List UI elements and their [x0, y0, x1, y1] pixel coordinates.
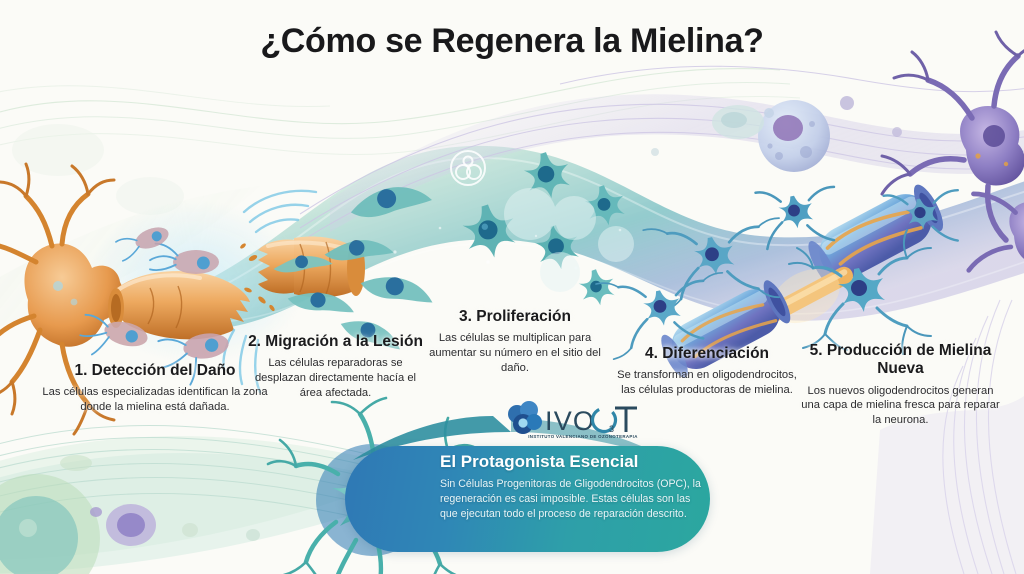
ivot-logo: IVO 3 INSTITUTO VALENCIANO DE OZONOTERAP… [503, 398, 653, 446]
step-3-heading: 3. Proliferación [424, 308, 606, 326]
step-3-body: Las células se multiplican para aumentar… [424, 331, 606, 375]
infographic-canvas: ¿Cómo se Regenera la Mielina? 1. Detecci… [0, 0, 1024, 574]
step-5-produccion-de-mielina-nueva: 5. Producción de Mielina Nueva Los nuevo… [798, 342, 1003, 428]
callout-heading: El Protagonista Esencial [440, 452, 702, 472]
logo-cell-cluster [508, 401, 542, 434]
logo-tagline: INSTITUTO VALENCIANO DE OZONOTERAPIA [517, 434, 649, 439]
step-2-migracion-a-la-lesion: 2. Migración a la Lesión Las células rep… [243, 333, 428, 401]
step-5-heading: 5. Producción de Mielina Nueva [798, 342, 1003, 379]
callout-body: Sin Células Progenitoras de Gligodendroc… [440, 477, 702, 522]
step-2-body: Las células reparadoras se desplazan dir… [243, 356, 428, 400]
step-1-body: Las células especializadas identifican l… [40, 385, 270, 415]
step-4-diferenciacion: 4. Diferenciación Se transforman en olig… [612, 345, 802, 398]
step-4-body: Se transforman en oligodendrocitos, las … [612, 368, 802, 398]
floating-cell-purple [106, 504, 156, 546]
step-1-deteccion-del-dano: 1. Detección del Daño Las células especi… [40, 362, 270, 415]
step-4-heading: 4. Diferenciación [612, 345, 802, 363]
step-3-proliferacion: 3. Proliferación Las células se multipli… [424, 308, 606, 376]
callout-content: El Protagonista Esencial Sin Células Pro… [440, 452, 702, 522]
step-2-heading: 2. Migración a la Lesión [243, 333, 428, 351]
logo-subscript: 3 [609, 424, 614, 434]
logo-wordmark: IVO [545, 406, 595, 436]
page-title: ¿Cómo se Regenera la Mielina? [0, 22, 1024, 61]
step-5-body: Los nuevos oligodendrocitos generan una … [798, 384, 1003, 428]
step-1-heading: 1. Detección del Daño [40, 362, 270, 380]
logo-letter-t [615, 408, 637, 432]
